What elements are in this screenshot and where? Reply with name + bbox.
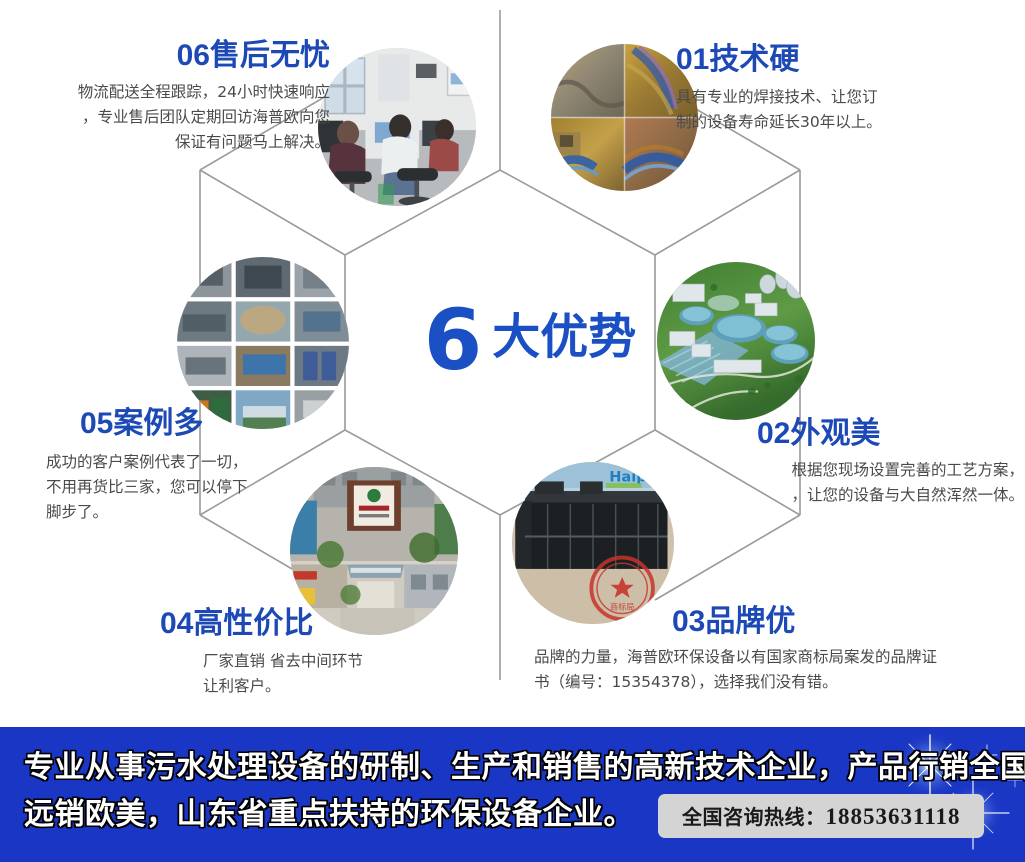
feature-03[interactable]: 03品牌优	[672, 606, 1012, 638]
feature-01[interactable]: 01技术硬 具有专业的焊接技术、让您订 制的设备寿命延长30年以上。	[676, 44, 1006, 135]
feature-06-desc-line-3: 保证有问题马上解决。	[10, 130, 330, 155]
spoke-upper-right	[655, 170, 800, 255]
center-number: 6	[424, 298, 480, 382]
feature-05-desc-line-3: 脚步了。	[46, 500, 380, 525]
feature-02-desc: 根据您现场设置完善的工艺方案， ，让您的设备与大自然浑然一体。	[624, 458, 1024, 508]
feature-06-desc-line-1: 物流配送全程跟踪，24小时快速响应	[10, 80, 330, 105]
feature-01-desc-line-2: 制的设备寿命延长30年以上。	[676, 110, 1006, 135]
banner-line-2: 远销欧美，山东省重点扶持的环保设备企业。	[24, 792, 634, 837]
feature-01-title: 01技术硬	[676, 44, 1006, 76]
feature-05-desc-line-2: 不用再货比三家，您可以停下	[46, 475, 380, 500]
photo-case-projects-grid-collage	[177, 257, 349, 429]
hotline-box[interactable]: 全国咨询热线：18853631118	[658, 794, 984, 838]
feature-02[interactable]: 02外观美 根据您现场设置完善的工艺方案， ，让您的设备与大自然浑然一体。	[757, 418, 1025, 508]
hotline-number: 18853631118	[826, 804, 961, 829]
feature-02-title: 02外观美	[757, 418, 1025, 450]
outer-edge-lower-right	[655, 515, 800, 600]
center-badge: 6 大优势	[380, 285, 680, 395]
feature-03-desc-line-2: 书（编号：15354378），选择我们没有错。	[534, 670, 1004, 695]
feature-04-desc-line-2: 让利客户。	[203, 674, 440, 699]
feature-01-desc: 具有专业的焊接技术、让您订 制的设备寿命延长30年以上。	[676, 85, 1006, 135]
infographic-root: 6 大优势	[0, 0, 1025, 862]
feature-05-desc-line-1: 成功的客户案例代表了一切，	[46, 450, 380, 475]
photo-wastewater-plant-aerial	[657, 262, 815, 420]
feature-04-desc-line-1: 厂家直销 省去中间环节	[203, 649, 440, 674]
hotline-label: 全国咨询热线：	[682, 807, 826, 829]
feature-05-title: 05案例多	[80, 408, 380, 440]
banner-content: 专业从事污水处理设备的研制、生产和销售的高新技术企业，产品行销全国并 远销欧美，…	[0, 727, 1025, 862]
feature-05[interactable]: 05案例多 成功的客户案例代表了一切， 不用再货比三家，您可以停下 脚步了。	[80, 408, 380, 525]
feature-02-desc-line-2: ，让您的设备与大自然浑然一体。	[624, 483, 1024, 508]
feature-05-desc: 成功的客户案例代表了一切， 不用再货比三家，您可以停下 脚步了。	[46, 450, 380, 525]
feature-06[interactable]: 06售后无忧 物流配送全程跟踪，24小时快速响应 ，专业售后团队定期回访海普欧向…	[10, 40, 330, 155]
feature-03-title: 03品牌优	[672, 606, 1012, 638]
feature-03-desc-line-1: 品牌的力量，海普欧环保设备以有国家商标局案发的品牌证	[534, 645, 1004, 670]
svg-text:商标局: 商标局	[610, 601, 634, 611]
feature-04-title: 04高性价比	[160, 608, 440, 640]
feature-06-desc-line-2: ，专业售后团队定期回访海普欧向您	[10, 105, 330, 130]
feature-04[interactable]: 04高性价比 厂家直销 省去中间环节 让利客户。	[160, 608, 440, 699]
spoke-upper-left	[200, 170, 345, 255]
banner-line-1: 专业从事污水处理设备的研制、生产和销售的高新技术企业，产品行销全国并	[24, 745, 1003, 790]
photo-office-staff-at-computers	[318, 48, 476, 206]
feature-01-desc-line-1: 具有专业的焊接技术、让您订	[676, 85, 1006, 110]
feature-06-title: 06售后无忧	[10, 40, 330, 72]
feature-03-desc: 品牌的力量，海普欧环保设备以有国家商标局案发的品牌证 书（编号：15354378…	[534, 645, 1004, 695]
bottom-banner: 专业从事污水处理设备的研制、生产和销售的高新技术企业，产品行销全国并 远销欧美，…	[0, 727, 1025, 862]
feature-06-desc: 物流配送全程跟踪，24小时快速响应 ，专业售后团队定期回访海普欧向您 保证有问题…	[10, 80, 330, 155]
feature-02-desc-line-1: 根据您现场设置完善的工艺方案，	[624, 458, 1024, 483]
feature-04-desc: 厂家直销 省去中间环节 让利客户。	[203, 649, 440, 699]
center-label: 大优势	[492, 314, 636, 366]
